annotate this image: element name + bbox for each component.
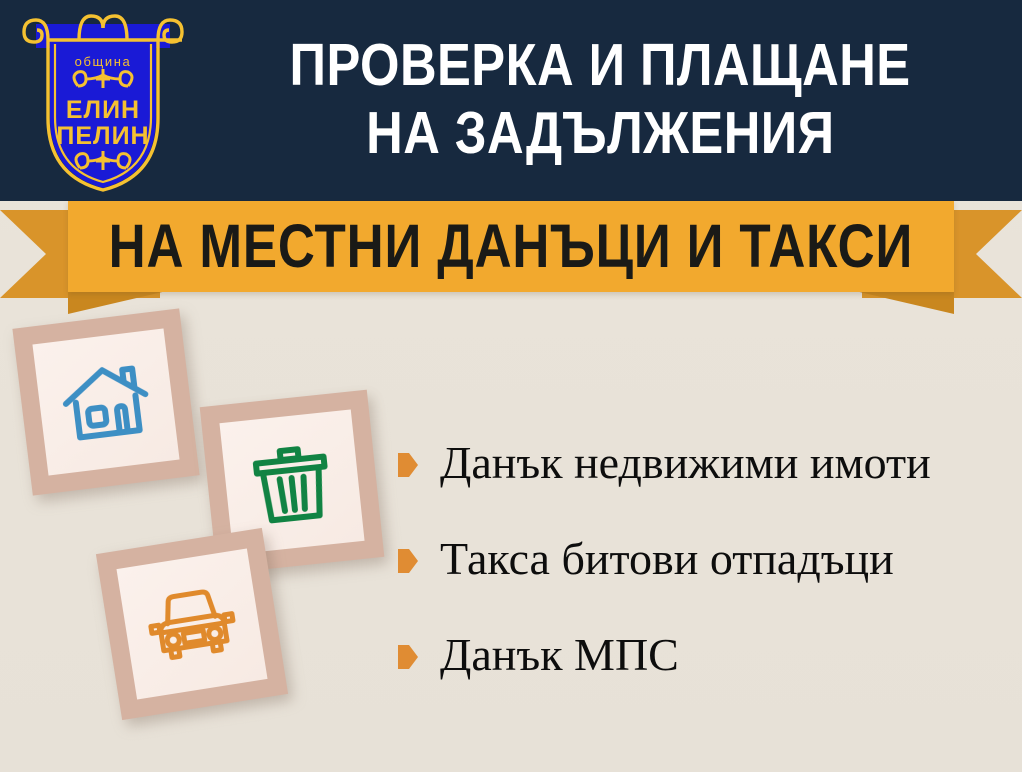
list-item[interactable]: Такса битови отпадъци [398, 511, 1018, 607]
trash-bin-icon [237, 427, 347, 537]
arrow-bullet-icon [398, 453, 418, 477]
house-icon [50, 346, 161, 457]
municipality-crest: община ЕЛИН ПЕЛИН [18, 6, 188, 194]
car-front-icon [135, 567, 249, 681]
header-title-line-1: ПРОВЕРКА И ПЛАЩАНЕ [289, 31, 910, 99]
stamp-card-property [12, 308, 199, 495]
ribbon-banner: НА МЕСТНИ ДАНЪЦИ И ТАКСИ [0, 198, 1022, 318]
crest-name-line2: ПЕЛИН [56, 122, 149, 150]
obligations-list: Данък недвижими имоти Такса битови отпад… [398, 415, 1018, 703]
header-title-line-2: НА ЗАДЪЛЖЕНИЯ [366, 99, 834, 167]
list-item[interactable]: Данък МПС [398, 607, 1018, 703]
list-item-label: Данък МПС [440, 629, 679, 681]
ribbon-label: НА МЕСТНИ ДАНЪЦИ И ТАКСИ [109, 215, 914, 277]
stamp-inner-face [116, 548, 267, 699]
stamp-inner-face [32, 328, 179, 475]
list-item-label: Такса битови отпадъци [440, 533, 894, 585]
list-item[interactable]: Данък недвижими имоти [398, 415, 1018, 511]
header-title: ПРОВЕРКА И ПЛАЩАНЕ НА ЗАДЪЛЖЕНИЯ [190, 14, 1010, 184]
crest-svg: община ЕЛИН ПЕЛИН [18, 6, 188, 194]
list-item-label: Данък недвижими имоти [440, 437, 931, 489]
crest-name-line1: ЕЛИН [66, 96, 140, 124]
poster-canvas: община ЕЛИН ПЕЛИН ПРОВЕРКА И ПЛАЩ [0, 0, 1022, 772]
stamp-card-vehicle [96, 528, 288, 720]
ribbon-main-panel: НА МЕСТНИ ДАНЪЦИ И ТАКСИ [68, 200, 954, 292]
arrow-bullet-icon [398, 645, 418, 669]
crest-small-label: община [75, 54, 132, 69]
arrow-bullet-icon [398, 549, 418, 573]
